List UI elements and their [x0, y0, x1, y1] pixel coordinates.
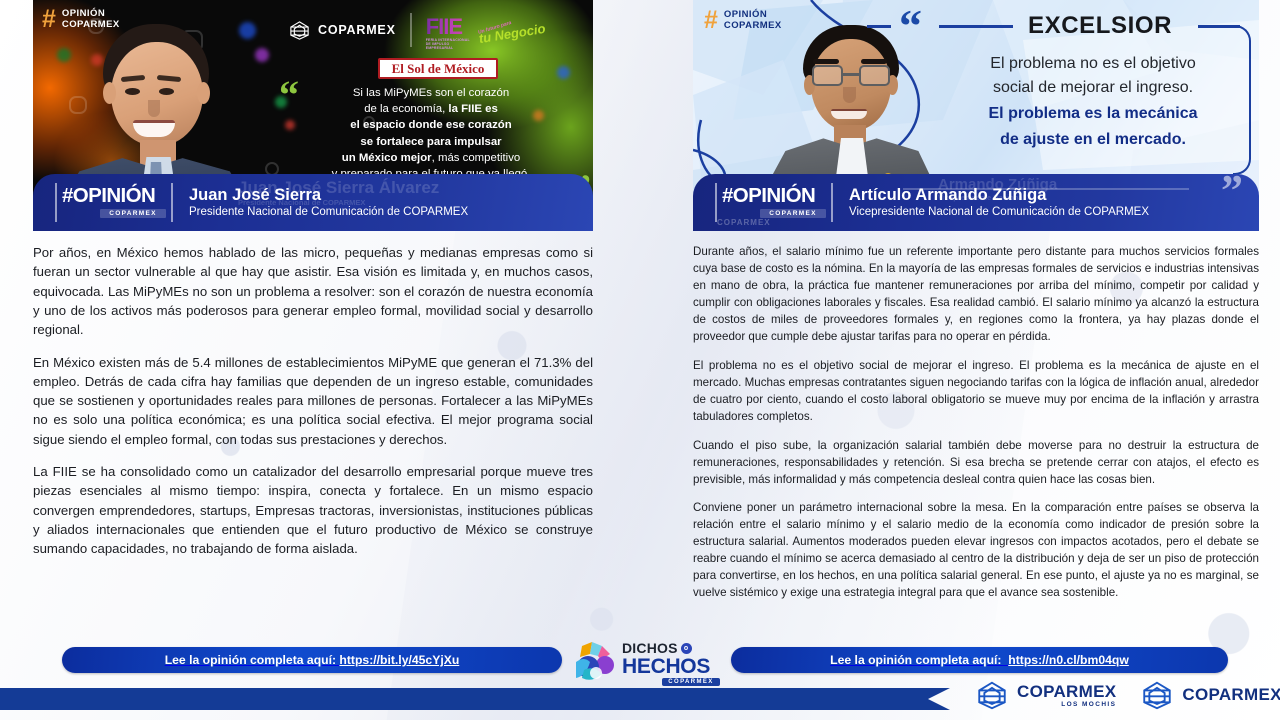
quote-block-left: “ ” Si las MiPyMEs son el corazón de la … — [301, 85, 561, 182]
right-namebar: Armando Zúñiga Vicepresidente Nacional C… — [693, 174, 1259, 231]
author-role: Vicepresidente Nacional de Comunicación … — [849, 205, 1149, 219]
newspaper-name: El Sol de México — [392, 61, 485, 77]
left-banner-image: # OPINIÓN COPARMEX COPARMEX — [33, 0, 593, 231]
right-paragraph-3: Cuando el piso sube, la organización sal… — [693, 437, 1259, 488]
fiie-logo: FIIE FERIA INTERNACIONAL DE IMPULSO EMPR… — [426, 16, 545, 44]
right-paragraph-1: Durante años, el salario mínimo fue un r… — [693, 243, 1259, 345]
right-article: Durante años, el salario mínimo fue un r… — [693, 243, 1259, 613]
quote-line-2: el espacio donde ese corazón — [301, 117, 561, 133]
page-root: # OPINIÓN COPARMEX COPARMEX — [0, 0, 1280, 720]
hashtag-icon: # — [704, 8, 717, 33]
bokeh-dot — [557, 66, 570, 79]
fiie-script: Un futuro para tu Negocio — [476, 14, 546, 45]
right-banner-image: # OPINIÓN COPARMEX “ EXCELSIOR — [693, 0, 1259, 231]
right-column: # OPINIÓN COPARMEX “ EXCELSIOR — [693, 0, 1259, 231]
quote-block-right: El problema no es el objetivo social de … — [948, 52, 1238, 152]
left-paragraph-3: La FIIE se ha consolidado como un catali… — [33, 462, 593, 558]
footer-logo-name: COPARMEX — [1182, 686, 1280, 703]
speech-bubble-burst-icon — [572, 640, 620, 684]
dichos-o-hechos-logo: DICHOS o HECHOS COPARMEX — [572, 638, 712, 686]
right-quote-line-1: social de mejorar el ingreso. — [948, 76, 1238, 100]
newspaper-name-right: EXCELSIOR — [1028, 12, 1172, 40]
dichos-word-top: DICHOS o — [622, 641, 720, 655]
left-logo-row: COPARMEX FIIE FERIA INTERNACIONAL DE IMP… — [288, 13, 545, 47]
footer-logo-los-mochis: COPARMEX LOS MOCHIS — [975, 680, 1116, 711]
opinion-logo-right: #OPINIÓN COPARMEX — [715, 183, 833, 222]
author-name: Juan José Sierra — [189, 186, 468, 205]
dichos-connector: o — [681, 643, 692, 654]
left-paragraph-2: En México existen más de 5.4 millones de… — [33, 353, 593, 449]
left-paragraph-1: Por años, en México hemos hablado de las… — [33, 243, 593, 339]
newspaper-plate-left: El Sol de México — [378, 58, 498, 79]
quote-open-icon: “ — [279, 79, 299, 110]
left-cta-url[interactable]: https://bit.ly/45cYjXu — [339, 653, 459, 667]
coparmex-mark-icon — [1140, 680, 1174, 711]
quote-text-left: Si las MiPyMEs son el corazón de la econ… — [301, 85, 561, 182]
right-author-block: Artículo Armando Zúñiga Vicepresidente N… — [849, 186, 1149, 219]
bokeh-dot — [285, 120, 295, 130]
coparmex-mark-icon — [975, 680, 1009, 711]
hashtag-icon: # — [42, 7, 55, 32]
quote-line-1: de la economía, la FIIE es — [301, 101, 561, 117]
header-rule-left — [867, 25, 891, 28]
footer-logo-words: COPARMEX — [1182, 686, 1280, 705]
quote-line-3: se fortalece para impulsar — [301, 134, 561, 150]
right-paragraph-4: Conviene poner un parámetro internaciona… — [693, 499, 1259, 601]
coparmex-mark-icon — [288, 20, 311, 41]
left-column: # OPINIÓN COPARMEX COPARMEX — [33, 0, 593, 231]
author-name: Artículo Armando Zúñiga — [849, 186, 1149, 205]
opinion-badge-left: # OPINIÓN COPARMEX — [42, 7, 120, 32]
left-cta-label: Lee la opinión completa aquí: https://bi… — [165, 653, 460, 667]
header-rule-mid — [939, 25, 1013, 28]
right-cta-button[interactable]: Lee la opinión completa aquí: https://n0… — [731, 647, 1228, 673]
fiie-subtitle: FERIA INTERNACIONAL DE IMPULSO EMPRESARI… — [426, 38, 472, 51]
left-article: Por años, en México hemos hablado de las… — [33, 243, 593, 572]
opinion-logo-top: #OPINIÓN — [62, 186, 166, 207]
footer-logo-national: COPARMEX — [1140, 680, 1280, 711]
footer-logo-name: COPARMEX — [1017, 683, 1116, 700]
opinion-logo-bottom: COPARMEX — [760, 209, 826, 218]
badge-line2: COPARMEX — [62, 19, 120, 30]
footer-bar — [0, 688, 950, 710]
coparmex-logo-left: COPARMEX — [288, 20, 396, 41]
opinion-logo-bottom: COPARMEX — [100, 209, 166, 218]
right-quote-bold-1: de ajuste en el mercado. — [948, 128, 1238, 152]
right-cta-url[interactable]: https://n0.cl/bm04qw — [1008, 653, 1129, 667]
dichos-wordmark: DICHOS o HECHOS COPARMEX — [622, 641, 720, 686]
left-cta-button[interactable]: Lee la opinión completa aquí: https://bi… — [62, 647, 562, 673]
dichos-tag: COPARMEX — [662, 678, 720, 686]
right-quote-line-0: El problema no es el objetivo — [948, 52, 1238, 76]
footer-logos: COPARMEX LOS MOCHIS COPARMEX — [975, 680, 1280, 711]
badge-line1: OPINIÓN — [62, 8, 105, 19]
badge-line1: OPINIÓN — [724, 9, 767, 20]
right-paragraph-2: El problema no es el objetivo social de … — [693, 357, 1259, 425]
opinion-logo-top: #OPINIÓN — [722, 186, 826, 207]
right-quote-bold-0: El problema es la mecánica — [948, 102, 1238, 126]
fiie-mark-icon: FIIE FERIA INTERNACIONAL DE IMPULSO EMPR… — [426, 16, 472, 44]
opinion-logo-left: #OPINIÓN COPARMEX — [55, 183, 173, 222]
logo-divider — [410, 13, 412, 47]
namebar-quote-icon: ” — [1221, 178, 1243, 204]
left-namebar: Juan José Sierra Álvarez Presidente Naci… — [33, 174, 593, 231]
quote-line-4: un México mejor, más competitivo — [301, 150, 561, 166]
footer-logo-words: COPARMEX LOS MOCHIS — [1017, 683, 1116, 709]
footer-logo-sub: LOS MOCHIS — [1017, 702, 1116, 709]
left-author-block: Juan José Sierra Presidente Nacional de … — [189, 186, 468, 219]
right-cta-label: Lee la opinión completa aquí: https://n0… — [830, 653, 1129, 667]
dichos-word-bottom: HECHOS — [622, 656, 720, 677]
header-quote-icon: “ — [899, 12, 920, 41]
coparmex-wordmark: COPARMEX — [318, 23, 396, 37]
quote-line-0: Si las MiPyMEs son el corazón — [301, 85, 561, 101]
fiie-letters: FIIE — [426, 16, 472, 38]
author-role: Presidente Nacional de Comunicación de C… — [189, 205, 468, 219]
